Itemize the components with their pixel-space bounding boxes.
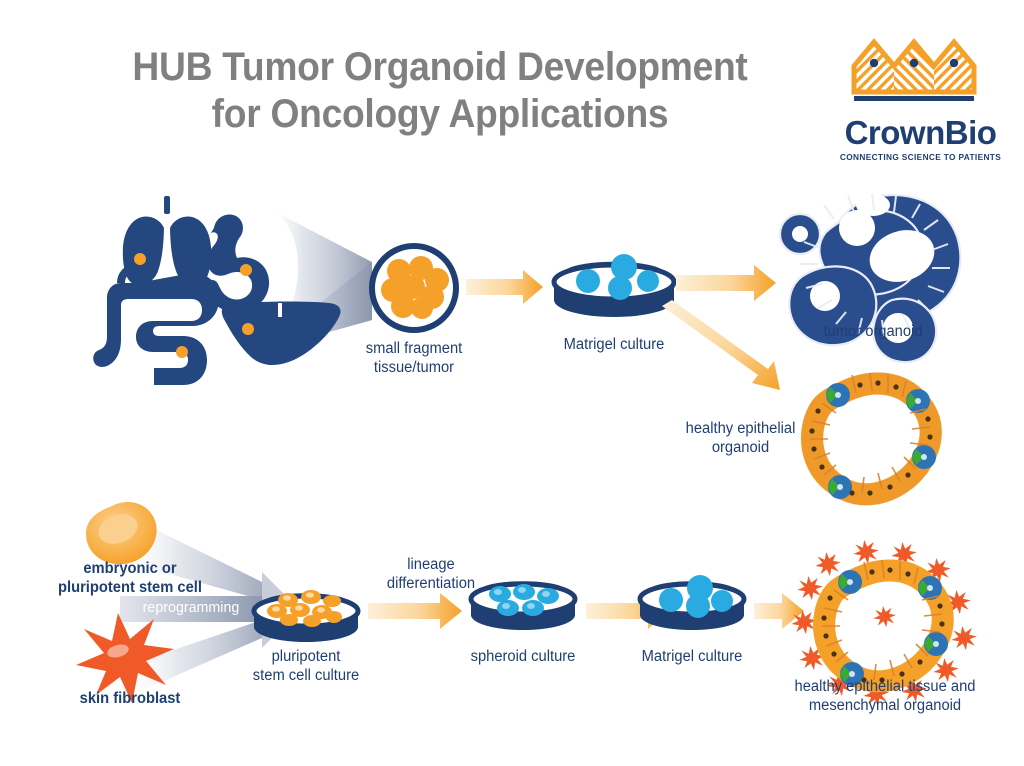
label-embryonic-stem-cell: embryonic or pluripotent stem cell — [35, 560, 225, 598]
liver-icon — [222, 302, 341, 365]
label-tumor-organoid: tumor organoid — [797, 323, 949, 342]
label-healthy-epithelial-organoid: healthy epithelial organoid — [672, 420, 810, 458]
matrigel-dish-bottom — [640, 575, 744, 630]
label-lineage-differentiation: lineage differentiation — [379, 556, 484, 594]
label-skin-fibroblast: skin fibroblast — [45, 690, 216, 709]
label-matrigel-culture-bottom: Matrigel culture — [626, 648, 759, 667]
small-fragment-node — [372, 246, 456, 330]
label-matrigel-culture-top: Matrigel culture — [548, 336, 681, 355]
arrow-fragment-to-matrigel — [466, 270, 543, 304]
infographic-canvas: HUB Tumor Organoid Development for Oncol… — [0, 0, 1024, 766]
label-mesenchymal-organoid: healthy epithelial tissue and mesenchyma… — [766, 678, 1004, 716]
healthy-epithelial-organoid-icon — [809, 373, 936, 499]
arrow-lineage-differentiation — [368, 593, 462, 629]
arrow-matrigel-to-tumor-organoid — [676, 265, 776, 301]
pluripotent-culture-dish — [254, 590, 358, 642]
label-reprogramming: reprogramming — [129, 599, 253, 616]
matrigel-dish-top — [554, 254, 674, 317]
label-pluripotent-stem-cell-culture: pluripotent stem cell culture — [240, 648, 373, 686]
label-small-fragment: small fragment tissue/tumor — [352, 340, 476, 378]
colon-icon — [93, 269, 219, 385]
label-spheroid-culture: spheroid culture — [457, 648, 590, 667]
spheroid-culture-dish — [471, 583, 575, 630]
